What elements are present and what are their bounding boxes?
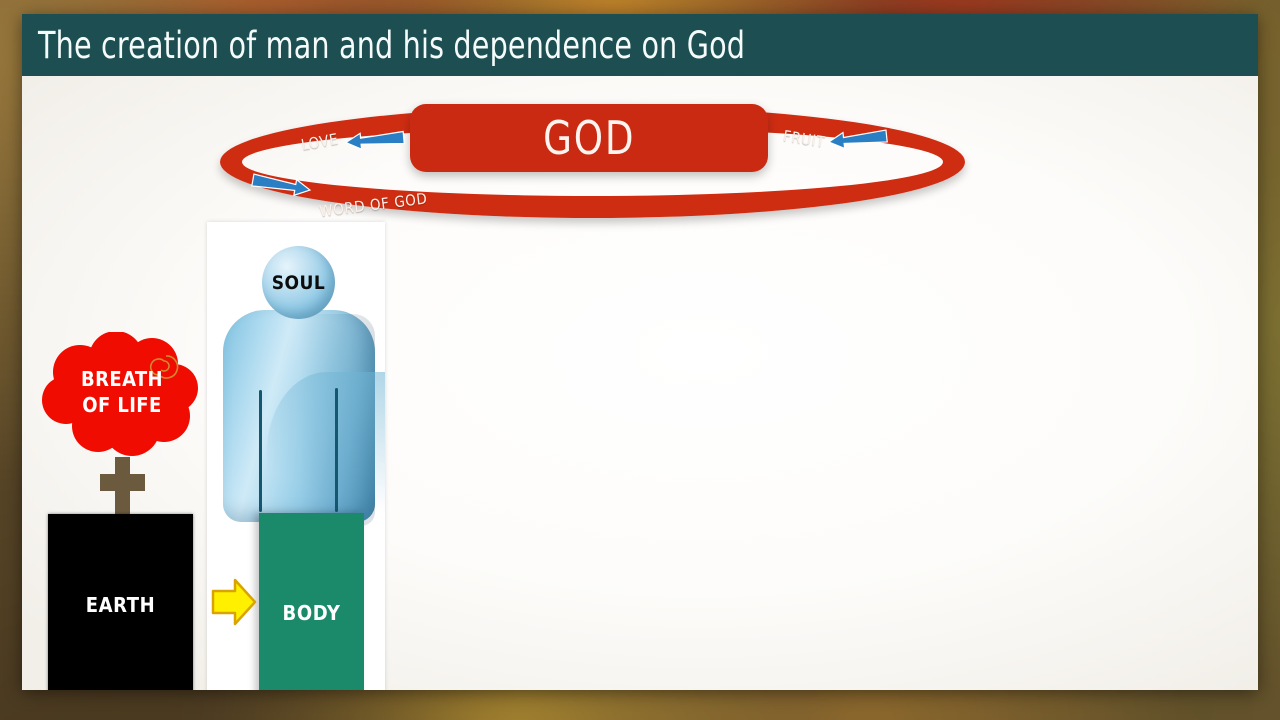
slide-title-bar: The creation of man and his dependence o… [22,14,1258,76]
breath-line-2: OF LIFE [40,392,204,418]
breath-of-life-cloud: BREATH OF LIFE [40,332,204,460]
body-label: BODY [259,601,364,625]
earth-box: EARTH [48,514,193,690]
god-label: GOD [543,111,635,165]
earth-label: EARTH [86,593,156,617]
soul-sphere: SOUL [262,246,335,319]
soul-label: SOUL [272,272,326,294]
page-title: The creation of man and his dependence o… [38,24,745,67]
figure-highlight [267,372,385,532]
arrow-right-icon-yellow [211,577,257,632]
breath-of-life-label: BREATH OF LIFE [40,366,204,418]
arrow-left-icon-love [343,126,407,158]
body-box: BODY [259,513,364,690]
slide-canvas: The creation of man and his dependence o… [22,14,1258,690]
figure-arm-right [335,388,338,512]
god-box[interactable]: GOD [410,104,768,172]
figure-arm-left [259,390,262,512]
breath-line-1: BREATH [40,366,204,392]
